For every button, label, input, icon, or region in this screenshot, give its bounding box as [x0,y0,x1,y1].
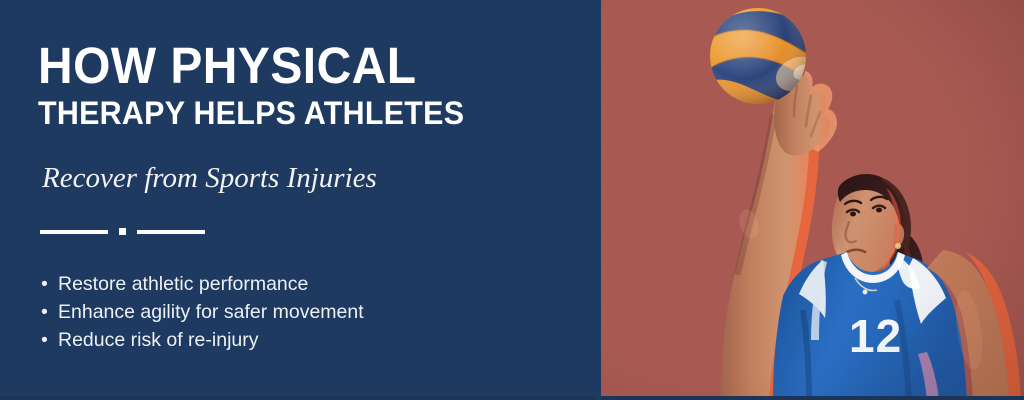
bullet-icon: • [41,298,48,326]
list-item-label: Enhance agility for safer movement [58,301,364,323]
divider-dot [119,228,126,235]
bottom-accent-strip [0,396,1024,400]
list-item: • Restore athletic performance [40,270,364,298]
promo-banner: HOW PHYSICAL THERAPY HELPS ATHLETES Reco… [0,0,1024,400]
bullet-icon: • [41,270,48,298]
headline-line-2: THERAPY HELPS ATHLETES [38,94,542,132]
divider [40,228,205,235]
benefits-list: • Restore athletic performance • Enhance… [40,270,364,354]
divider-left-bar [40,230,108,234]
divider-right-bar [137,230,205,234]
list-item: • Reduce risk of re-injury [40,326,364,354]
list-item-label: Reduce risk of re-injury [58,329,258,351]
page-title: HOW PHYSICAL THERAPY HELPS ATHLETES [38,40,568,132]
subtitle: Recover from Sports Injuries [42,161,377,195]
photo-left-edge [597,0,601,400]
photo-vignette [597,0,1024,400]
headline-line-1: HOW PHYSICAL [38,40,536,92]
athlete-photo: 12 [597,0,1024,400]
text-panel: HOW PHYSICAL THERAPY HELPS ATHLETES Reco… [0,0,597,400]
list-item: • Enhance agility for safer movement [40,298,364,326]
bullet-icon: • [41,326,48,354]
list-item-label: Restore athletic performance [58,273,308,295]
